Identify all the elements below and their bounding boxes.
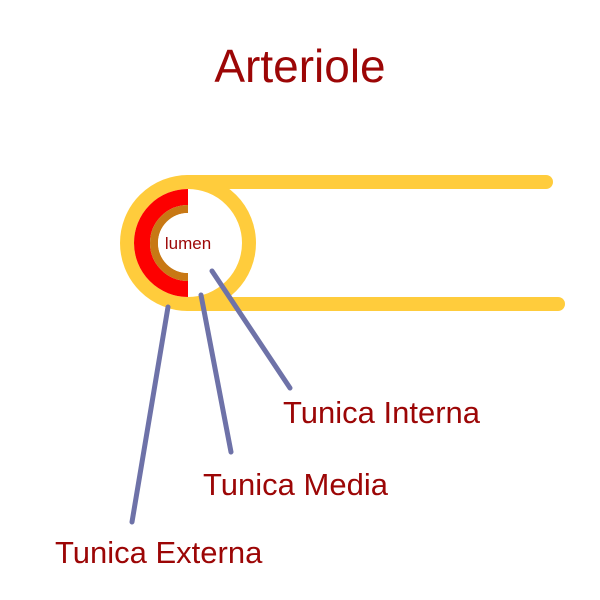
- label-tunica-interna: Tunica Interna: [283, 395, 481, 430]
- leader-line-tunica-externa: [132, 307, 168, 522]
- vessel-wall: lumen: [127, 182, 558, 304]
- arteriole-diagram: Arteriole lumen Tunica: [0, 0, 600, 600]
- lumen-label: lumen: [165, 234, 211, 253]
- label-tunica-externa: Tunica Externa: [55, 535, 263, 570]
- leader-line-tunica-interna: [212, 271, 290, 388]
- diagram-canvas: Arteriole lumen Tunica: [0, 0, 600, 600]
- label-tunica-media: Tunica Media: [203, 467, 389, 502]
- leader-line-tunica-media: [201, 295, 231, 452]
- page-title: Arteriole: [214, 40, 385, 92]
